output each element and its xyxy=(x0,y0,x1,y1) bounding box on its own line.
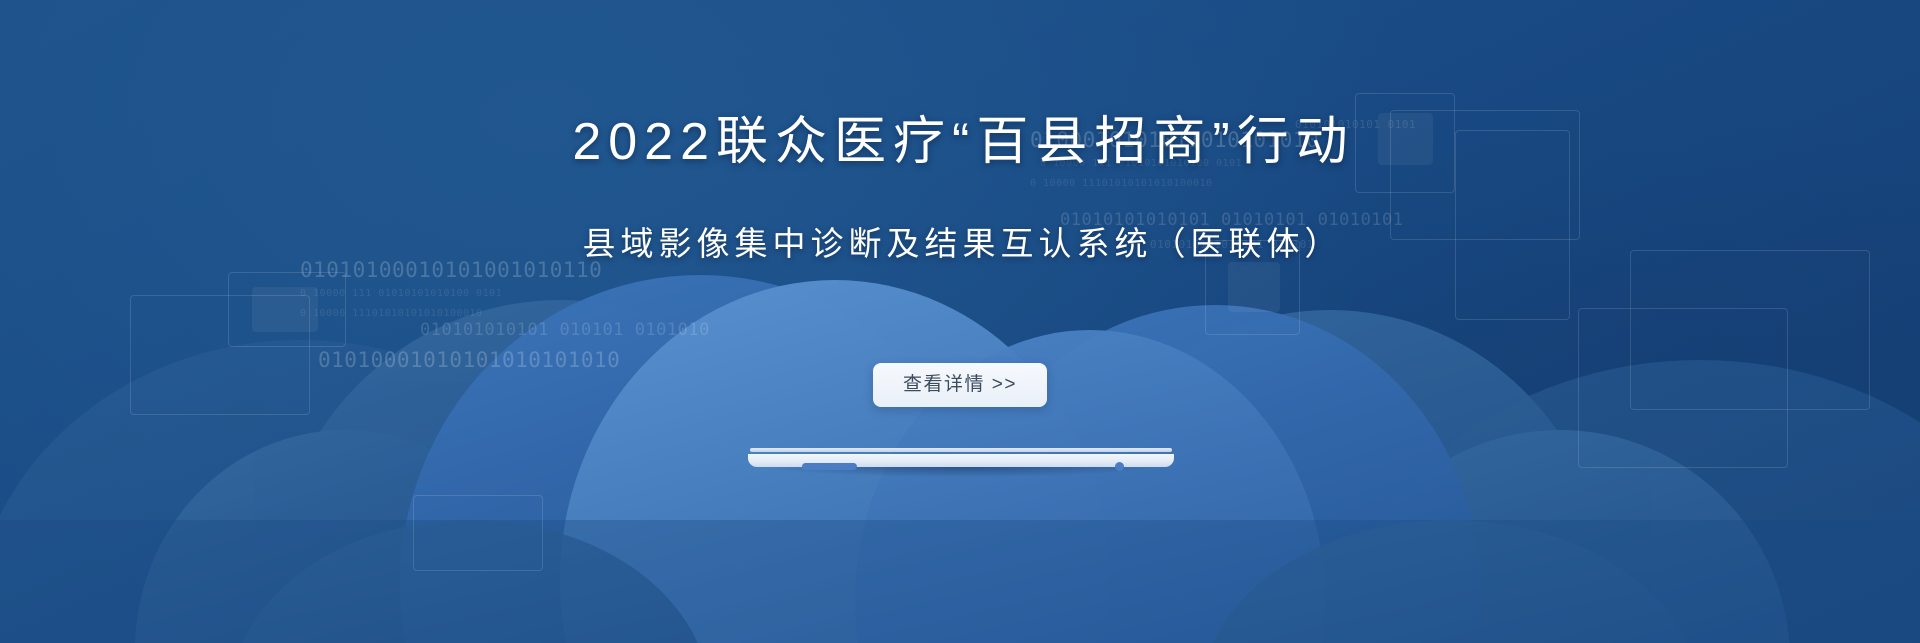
laptop-base xyxy=(748,454,1174,467)
laptop-trackpad-bar xyxy=(802,463,857,470)
promo-banner: 01010100010101001010110 0 10000 111 0101… xyxy=(0,0,1920,643)
laptop-screen-lip xyxy=(750,448,1172,452)
binary-text-left-2: 0 10000 111 01010101010100 0101 xyxy=(300,288,502,299)
view-details-button[interactable]: 查看详情 >> xyxy=(873,363,1047,407)
cta-container: 查看详情 >> xyxy=(0,363,1920,407)
banner-subtitle: 县域影像集中诊断及结果互认系统（医联体） xyxy=(0,222,1920,266)
banner-title: 2022联众医疗“百县招商”行动 xyxy=(0,112,1920,172)
laptop-illustration xyxy=(748,448,1174,470)
binary-text-left-4: 010101010101 010101 0101010 xyxy=(420,320,710,340)
laptop-indicator-dot xyxy=(1115,462,1124,471)
binary-text-left-3: 0 10000 11101010101010100010 xyxy=(300,308,483,319)
deco-fill-right-mid xyxy=(1228,262,1280,312)
deco-rect-bottom-center xyxy=(413,495,543,571)
binary-text-right-3: 0 10000 11101010101010100010 xyxy=(1030,178,1213,189)
